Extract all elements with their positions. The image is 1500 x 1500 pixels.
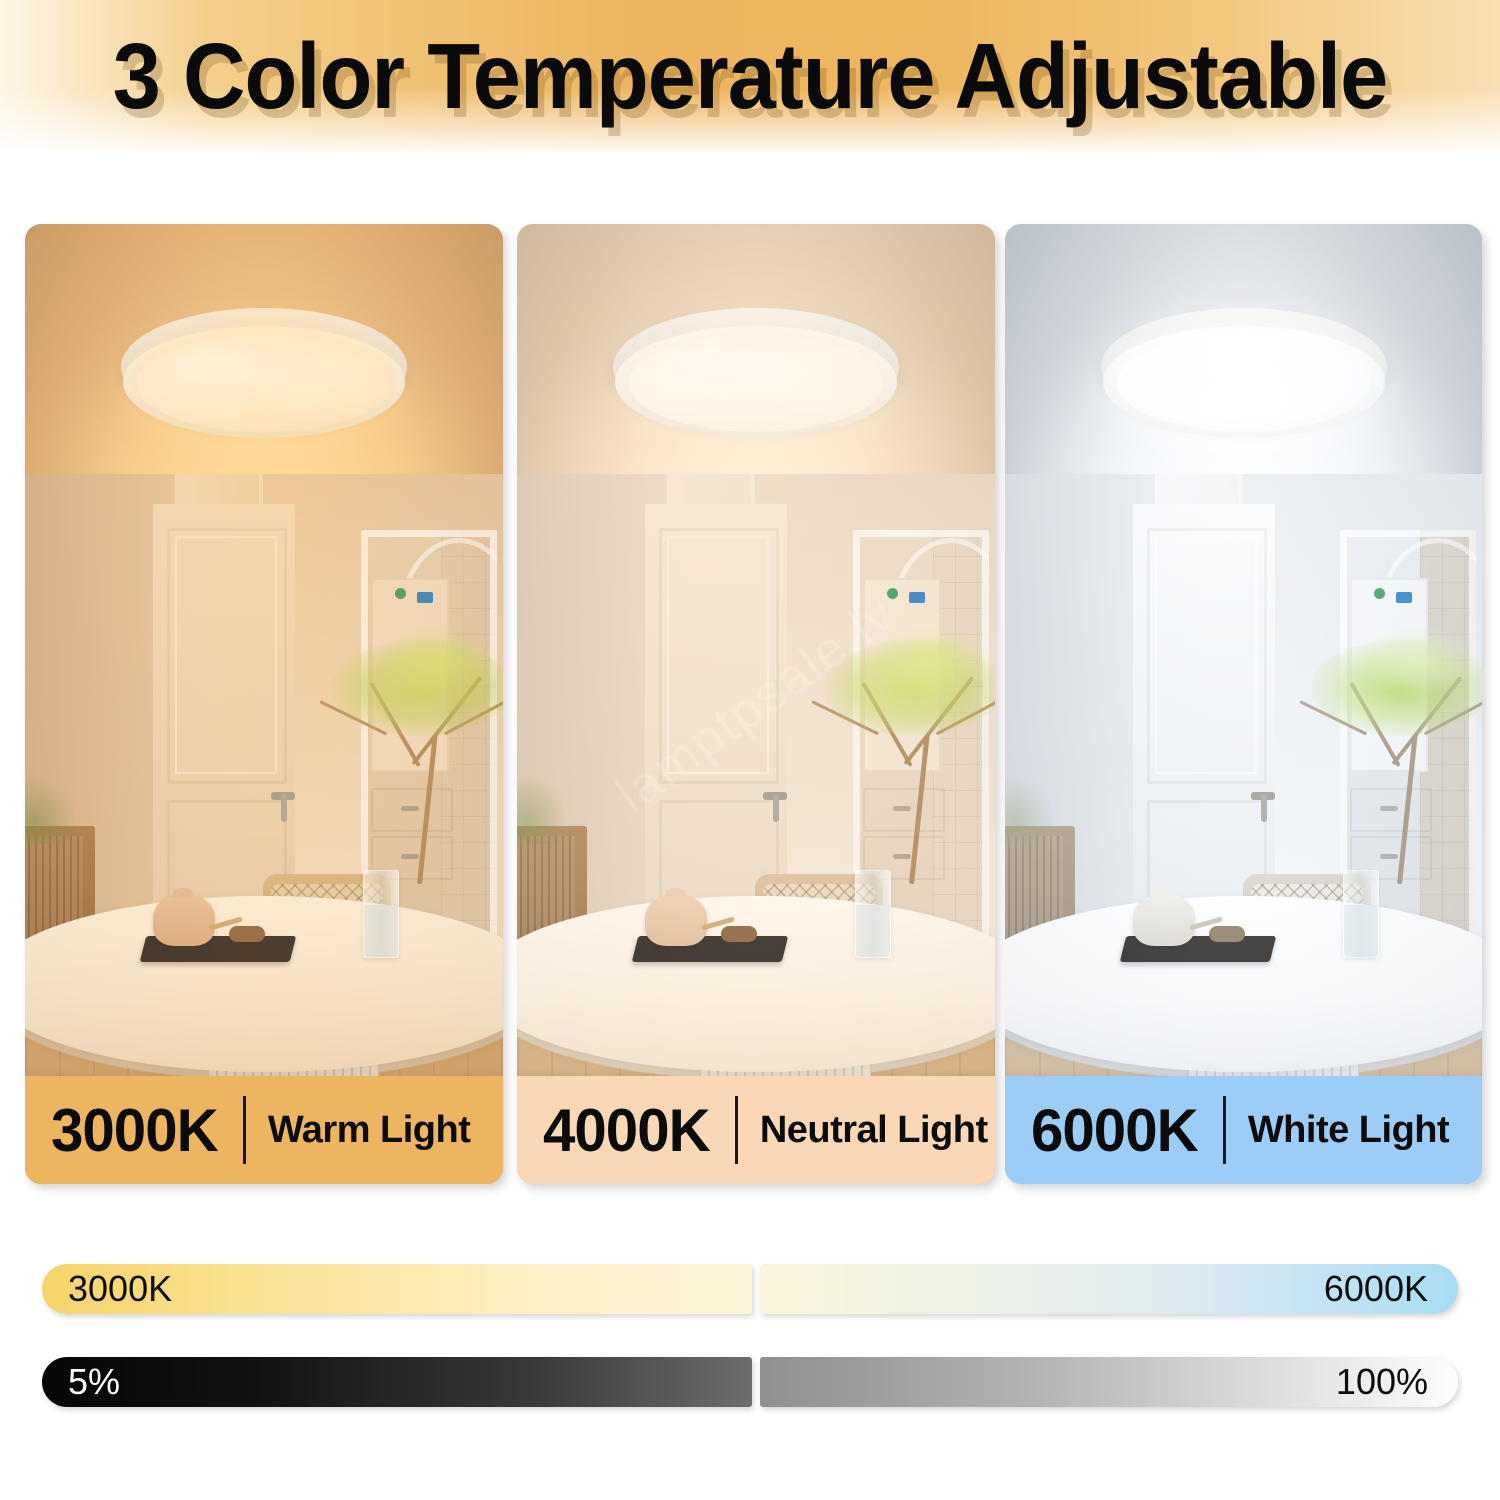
band-divider (243, 1096, 246, 1164)
vase-water (856, 905, 890, 957)
dining-table (25, 896, 503, 1072)
color-temperature-panels: 3000K Warm Light (0, 224, 1500, 1184)
room-scene-white (1005, 224, 1482, 1184)
corner-plant-icon (25, 774, 77, 844)
dimming-bar-high-half[interactable]: 100% (760, 1357, 1458, 1407)
lamp-gloss (1147, 346, 1297, 390)
kelvin-value: 4000K (543, 1096, 710, 1165)
door-panel-upper-inner (1155, 536, 1257, 774)
room-scene-neutral: lamptpsale.lv (517, 224, 995, 1184)
door-lock (281, 794, 287, 822)
cct-bar-warm-half[interactable]: 3000K (42, 1264, 752, 1314)
teapot-lid (665, 888, 685, 898)
dimming-bar-low-half[interactable]: 5% (42, 1357, 752, 1407)
cct-min-label: 3000K (68, 1268, 172, 1310)
label-band-white: 6000K White Light (1005, 1076, 1482, 1184)
dimming-max-label: 100% (1336, 1361, 1428, 1403)
band-divider (1223, 1096, 1226, 1164)
ceiling-lamp-icon (121, 308, 407, 444)
panel-warm-3000k[interactable]: 3000K Warm Light (25, 224, 503, 1184)
decorative-branch (1305, 634, 1482, 884)
glass-vase (855, 870, 891, 958)
cct-max-label: 6000K (1324, 1268, 1428, 1310)
teapot (153, 894, 215, 946)
light-description: White Light (1248, 1109, 1449, 1152)
corner-plant-icon (1005, 774, 1057, 844)
teapot-lid (173, 888, 193, 898)
ceiling-lamp-icon (613, 308, 899, 444)
tray-snack (1209, 926, 1245, 942)
decorative-branch (325, 634, 503, 884)
vase-water (1344, 905, 1378, 957)
lamp-gloss (659, 346, 809, 390)
dining-table (1005, 896, 1482, 1072)
kelvin-value: 3000K (51, 1096, 218, 1165)
panel-white-6000k[interactable]: 6000K White Light (1005, 224, 1482, 1184)
door-lock (773, 794, 779, 822)
glass-vase (363, 870, 399, 958)
door-lock (1261, 794, 1267, 822)
tray-snack (721, 926, 757, 942)
page-title: 3 Color Temperature Adjustable (53, 0, 1448, 152)
light-description: Warm Light (268, 1109, 471, 1152)
band-divider (735, 1096, 738, 1164)
branch-foliage (869, 626, 989, 696)
door-panel-upper-inner (175, 536, 277, 774)
vase-water (364, 905, 398, 957)
panel-neutral-4000k[interactable]: lamptpsale.lv 4000K Neutral Light (517, 224, 995, 1184)
label-band-warm: 3000K Warm Light (25, 1076, 503, 1184)
corner-plant-icon (517, 774, 569, 844)
room-scene-warm (25, 224, 503, 1184)
tray-snack (229, 926, 265, 942)
teapot-lid (1153, 888, 1173, 898)
color-temperature-range-bar[interactable]: 3000K 6000K (0, 1264, 1500, 1314)
branch-foliage (377, 626, 497, 696)
lamp-gloss (167, 346, 317, 390)
branch-foliage (1357, 626, 1477, 696)
label-band-neutral: 4000K Neutral Light (517, 1076, 995, 1184)
cct-bar-cool-half[interactable]: 6000K (760, 1264, 1458, 1314)
door-panel-upper-inner (667, 536, 769, 774)
ceiling-lamp-icon (1101, 308, 1387, 444)
header-banner: 3 Color Temperature Adjustable (0, 0, 1500, 152)
teapot (1133, 894, 1195, 946)
teapot (645, 894, 707, 946)
glass-vase (1343, 870, 1379, 958)
dimming-range-bar[interactable]: 5% 100% (0, 1357, 1500, 1407)
dimming-min-label: 5% (68, 1361, 120, 1403)
decorative-branch (817, 634, 995, 884)
kelvin-value: 6000K (1031, 1096, 1198, 1165)
light-description: Neutral Light (760, 1109, 988, 1152)
dining-table (517, 896, 995, 1072)
